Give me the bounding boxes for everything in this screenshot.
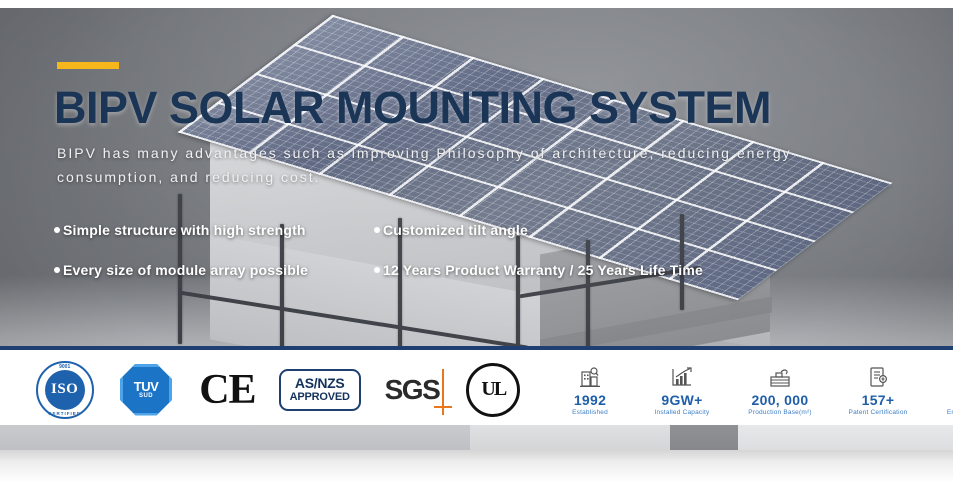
engineer-team-icon [924,363,953,389]
bullet-dot-icon [54,227,60,233]
cert-asnzs: AS/NZS APPROVED [268,359,371,421]
stat-established: 1992 Established [544,363,636,416]
cert-iso: 9001 ISO CERTIFIED [24,359,105,421]
stat-label: Production Base(m²) [728,409,832,416]
ul-label: UL [481,378,505,401]
feature-item: Customized tilt angle [374,222,794,238]
stat-label: Engineer Team [924,409,953,416]
feature-row: Simple structure with high strength Cust… [54,222,834,238]
stat-value: 1992 [544,392,636,408]
production-base-icon [728,363,832,389]
bar-chart-growth-icon [636,363,728,389]
feature-list: Simple structure with high strength Cust… [54,222,834,302]
asnzs-line2: APPROVED [290,391,350,404]
tuv-sud-icon: TUV SUD [120,364,172,416]
sgs-icon: SGS [379,372,446,408]
stat-label: Patent Certification [832,409,924,416]
page-drop-shadow [0,450,953,483]
bullet-dot-icon [54,267,60,273]
sgs-label: SGS [385,374,440,406]
feature-item: Simple structure with high strength [54,222,374,238]
ul-mark-icon: UL [466,363,520,417]
strip-segment-right [738,425,953,450]
stat-production-base: 200, 000 Production Base(m²) [728,363,832,416]
stat-value: 18+ [924,392,953,408]
cert-ul: UL [453,359,534,421]
cert-ce: CE [187,359,268,421]
company-stats: 1992 Established 9GW+ Installed Capacity… [534,363,953,416]
as-nzs-approved-icon: AS/NZS APPROVED [279,369,361,411]
tuv-sub-label: SUD [139,393,153,399]
stat-value: 200, 000 [728,392,832,408]
feature-row: Every size of module array possible 12 Y… [54,262,834,278]
feature-label: Every size of module array possible [63,262,308,278]
feature-item: 12 Years Product Warranty / 25 Years Lif… [374,262,794,278]
bullet-dot-icon [374,227,380,233]
iso-label: ISO [45,370,85,410]
patent-document-icon [832,363,924,389]
cert-tuv: TUV SUD [105,359,186,421]
certification-stats-bar: 9001 ISO CERTIFIED TUV SUD CE AS/NZS APP… [0,346,953,433]
banner-bottom-strip [0,425,953,450]
certification-logos: 9001 ISO CERTIFIED TUV SUD CE AS/NZS APP… [0,359,534,421]
iso-top-text: 9001 [38,364,92,370]
sgs-horizontal-rule [434,406,452,408]
iso-bottom-text: CERTIFIED [38,411,92,416]
accent-bar [57,62,119,69]
strip-segment-mid [470,425,670,450]
stat-engineer-team: 18+ Engineer Team [924,363,953,416]
stat-value: 9GW+ [636,392,728,408]
cert-sgs: SGS [371,359,452,421]
asnzs-line1: AS/NZS [290,376,350,391]
page-subtitle: BIPV has many advantages such as improvi… [57,141,817,189]
sgs-vertical-rule [442,369,444,415]
stat-patent-certification: 157+ Patent Certification [832,363,924,416]
banner-page: BIPV SOLAR MOUNTING SYSTEM BIPV has many… [0,0,953,483]
stat-label: Installed Capacity [636,409,728,416]
tuv-label: TUV [134,381,159,393]
page-title: BIPV SOLAR MOUNTING SYSTEM [54,82,771,134]
iso-9001-certified-icon: 9001 ISO CERTIFIED [36,361,94,419]
stat-installed-capacity: 9GW+ Installed Capacity [636,363,728,416]
bullet-dot-icon [374,267,380,273]
feature-label: 12 Years Product Warranty / 25 Years Lif… [383,262,703,278]
feature-label: Customized tilt angle [383,222,528,238]
feature-item: Every size of module array possible [54,262,374,278]
stat-label: Established [544,409,636,416]
ce-mark-icon: CE [199,366,255,414]
feature-label: Simple structure with high strength [63,222,306,238]
strip-segment-left [0,425,470,450]
stat-value: 157+ [832,392,924,408]
factory-building-icon [544,363,636,389]
